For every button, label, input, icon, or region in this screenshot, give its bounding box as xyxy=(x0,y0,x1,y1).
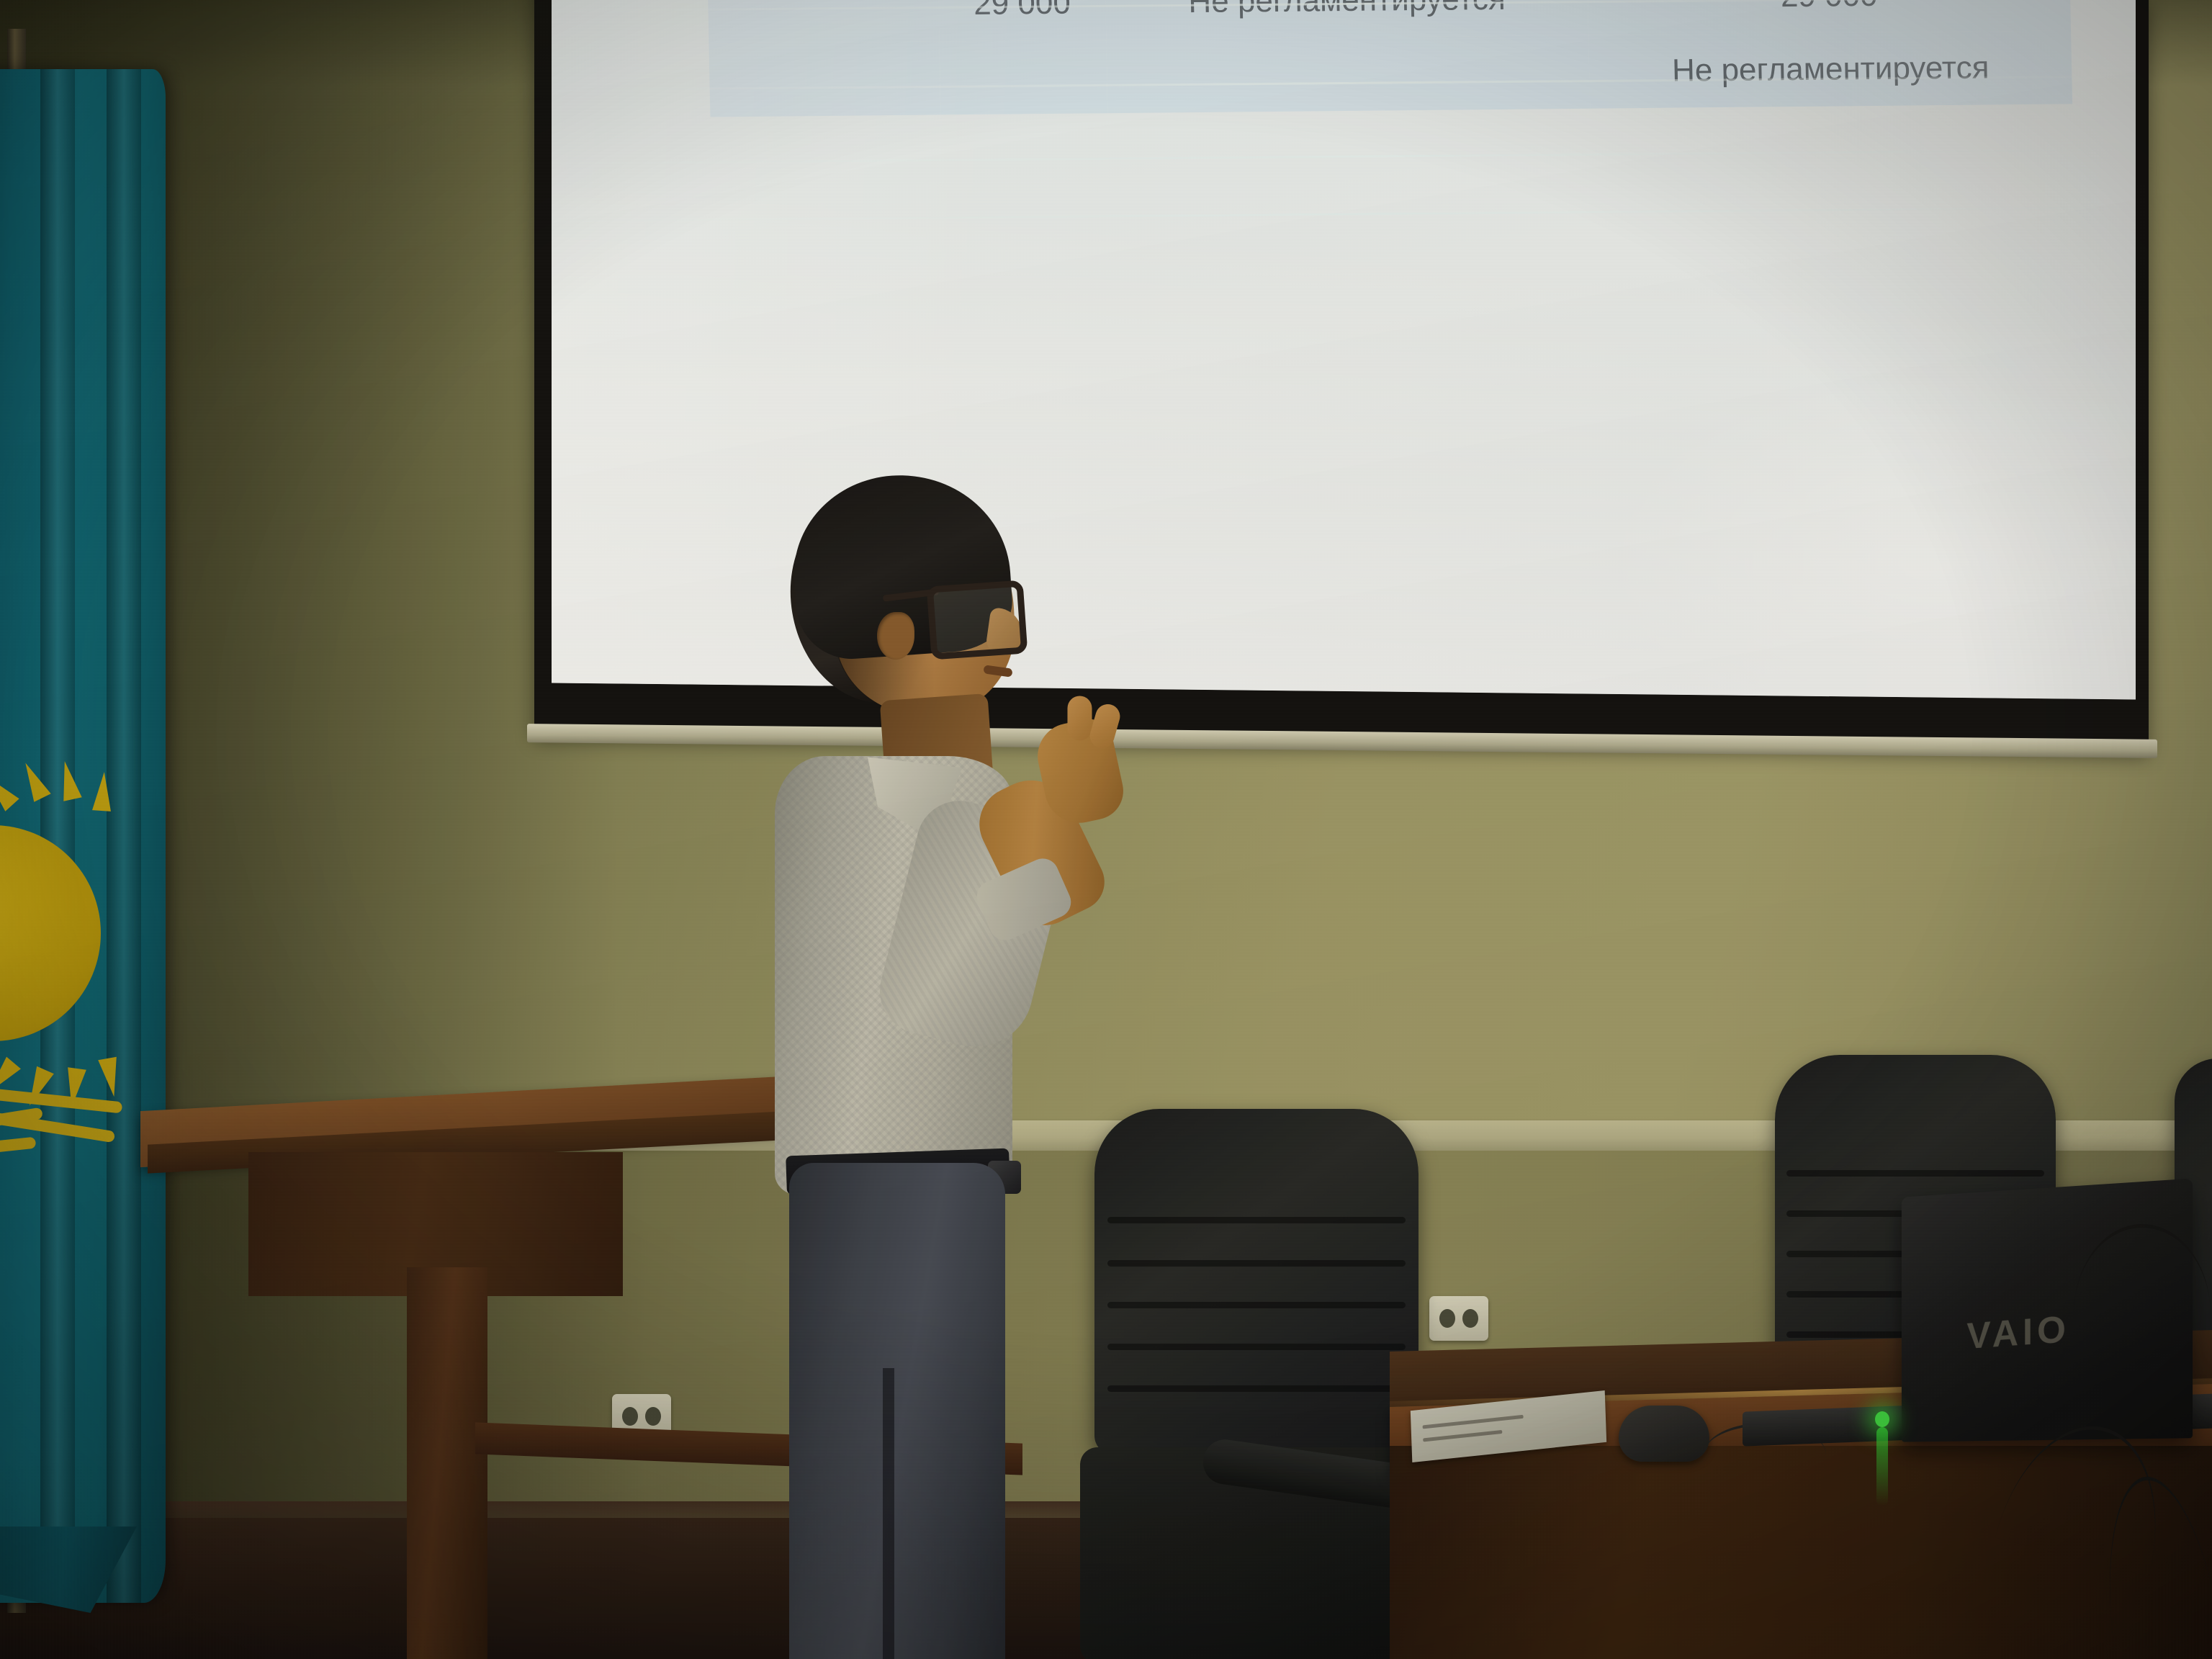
desk-front-panel xyxy=(1390,1446,2212,1659)
flag-fold xyxy=(107,69,141,1603)
ear xyxy=(877,612,914,660)
trouser-seam xyxy=(883,1368,894,1659)
cell-class xyxy=(552,0,709,45)
cell-value xyxy=(1107,35,1591,113)
glasses-icon xyxy=(927,580,1028,660)
flag-eagle-icon xyxy=(0,1084,122,1171)
flag-sun-icon xyxy=(0,825,101,1041)
cell-value: Не регламентируется xyxy=(1588,30,2072,108)
cell-value xyxy=(707,0,939,43)
photo-scene: 3 520 20 0,5 мкм B 3 520 20 3 520 5,0 мк… xyxy=(0,0,2212,1659)
cell-value xyxy=(939,40,1107,114)
flag-sun-ray xyxy=(92,771,114,811)
power-led-indicator xyxy=(1875,1411,1889,1427)
vaio-logo: VAIO xyxy=(1966,1308,2070,1358)
table-row: Не регламентируется xyxy=(552,30,2072,119)
led-reflection xyxy=(1876,1427,1888,1506)
cell-value: 29 000 xyxy=(938,0,1106,41)
lectern-column xyxy=(407,1267,487,1659)
screen-glare xyxy=(1603,366,2136,700)
wall-outlet-icon xyxy=(1429,1296,1488,1341)
cell-value: Не регламентируется xyxy=(1105,0,1589,40)
presenter xyxy=(756,468,1159,1659)
flag-fold xyxy=(40,69,75,1603)
cell-value xyxy=(709,41,940,117)
cell-class xyxy=(552,43,710,118)
trousers xyxy=(789,1163,1005,1659)
cleanroom-classification-table: 3 520 20 0,5 мкм B 3 520 20 3 520 5,0 мк… xyxy=(552,0,2072,119)
computer-mouse[interactable] xyxy=(1619,1406,1709,1462)
kazakhstan-flag xyxy=(0,69,166,1603)
presentation-slide: 3 520 20 0,5 мкм B 3 520 20 3 520 5,0 мк… xyxy=(552,0,2136,317)
cell-value: 29 000 xyxy=(1587,0,2071,35)
flag-sun-ray xyxy=(0,770,19,811)
laptop-lid[interactable]: VAIO xyxy=(1902,1179,2193,1442)
